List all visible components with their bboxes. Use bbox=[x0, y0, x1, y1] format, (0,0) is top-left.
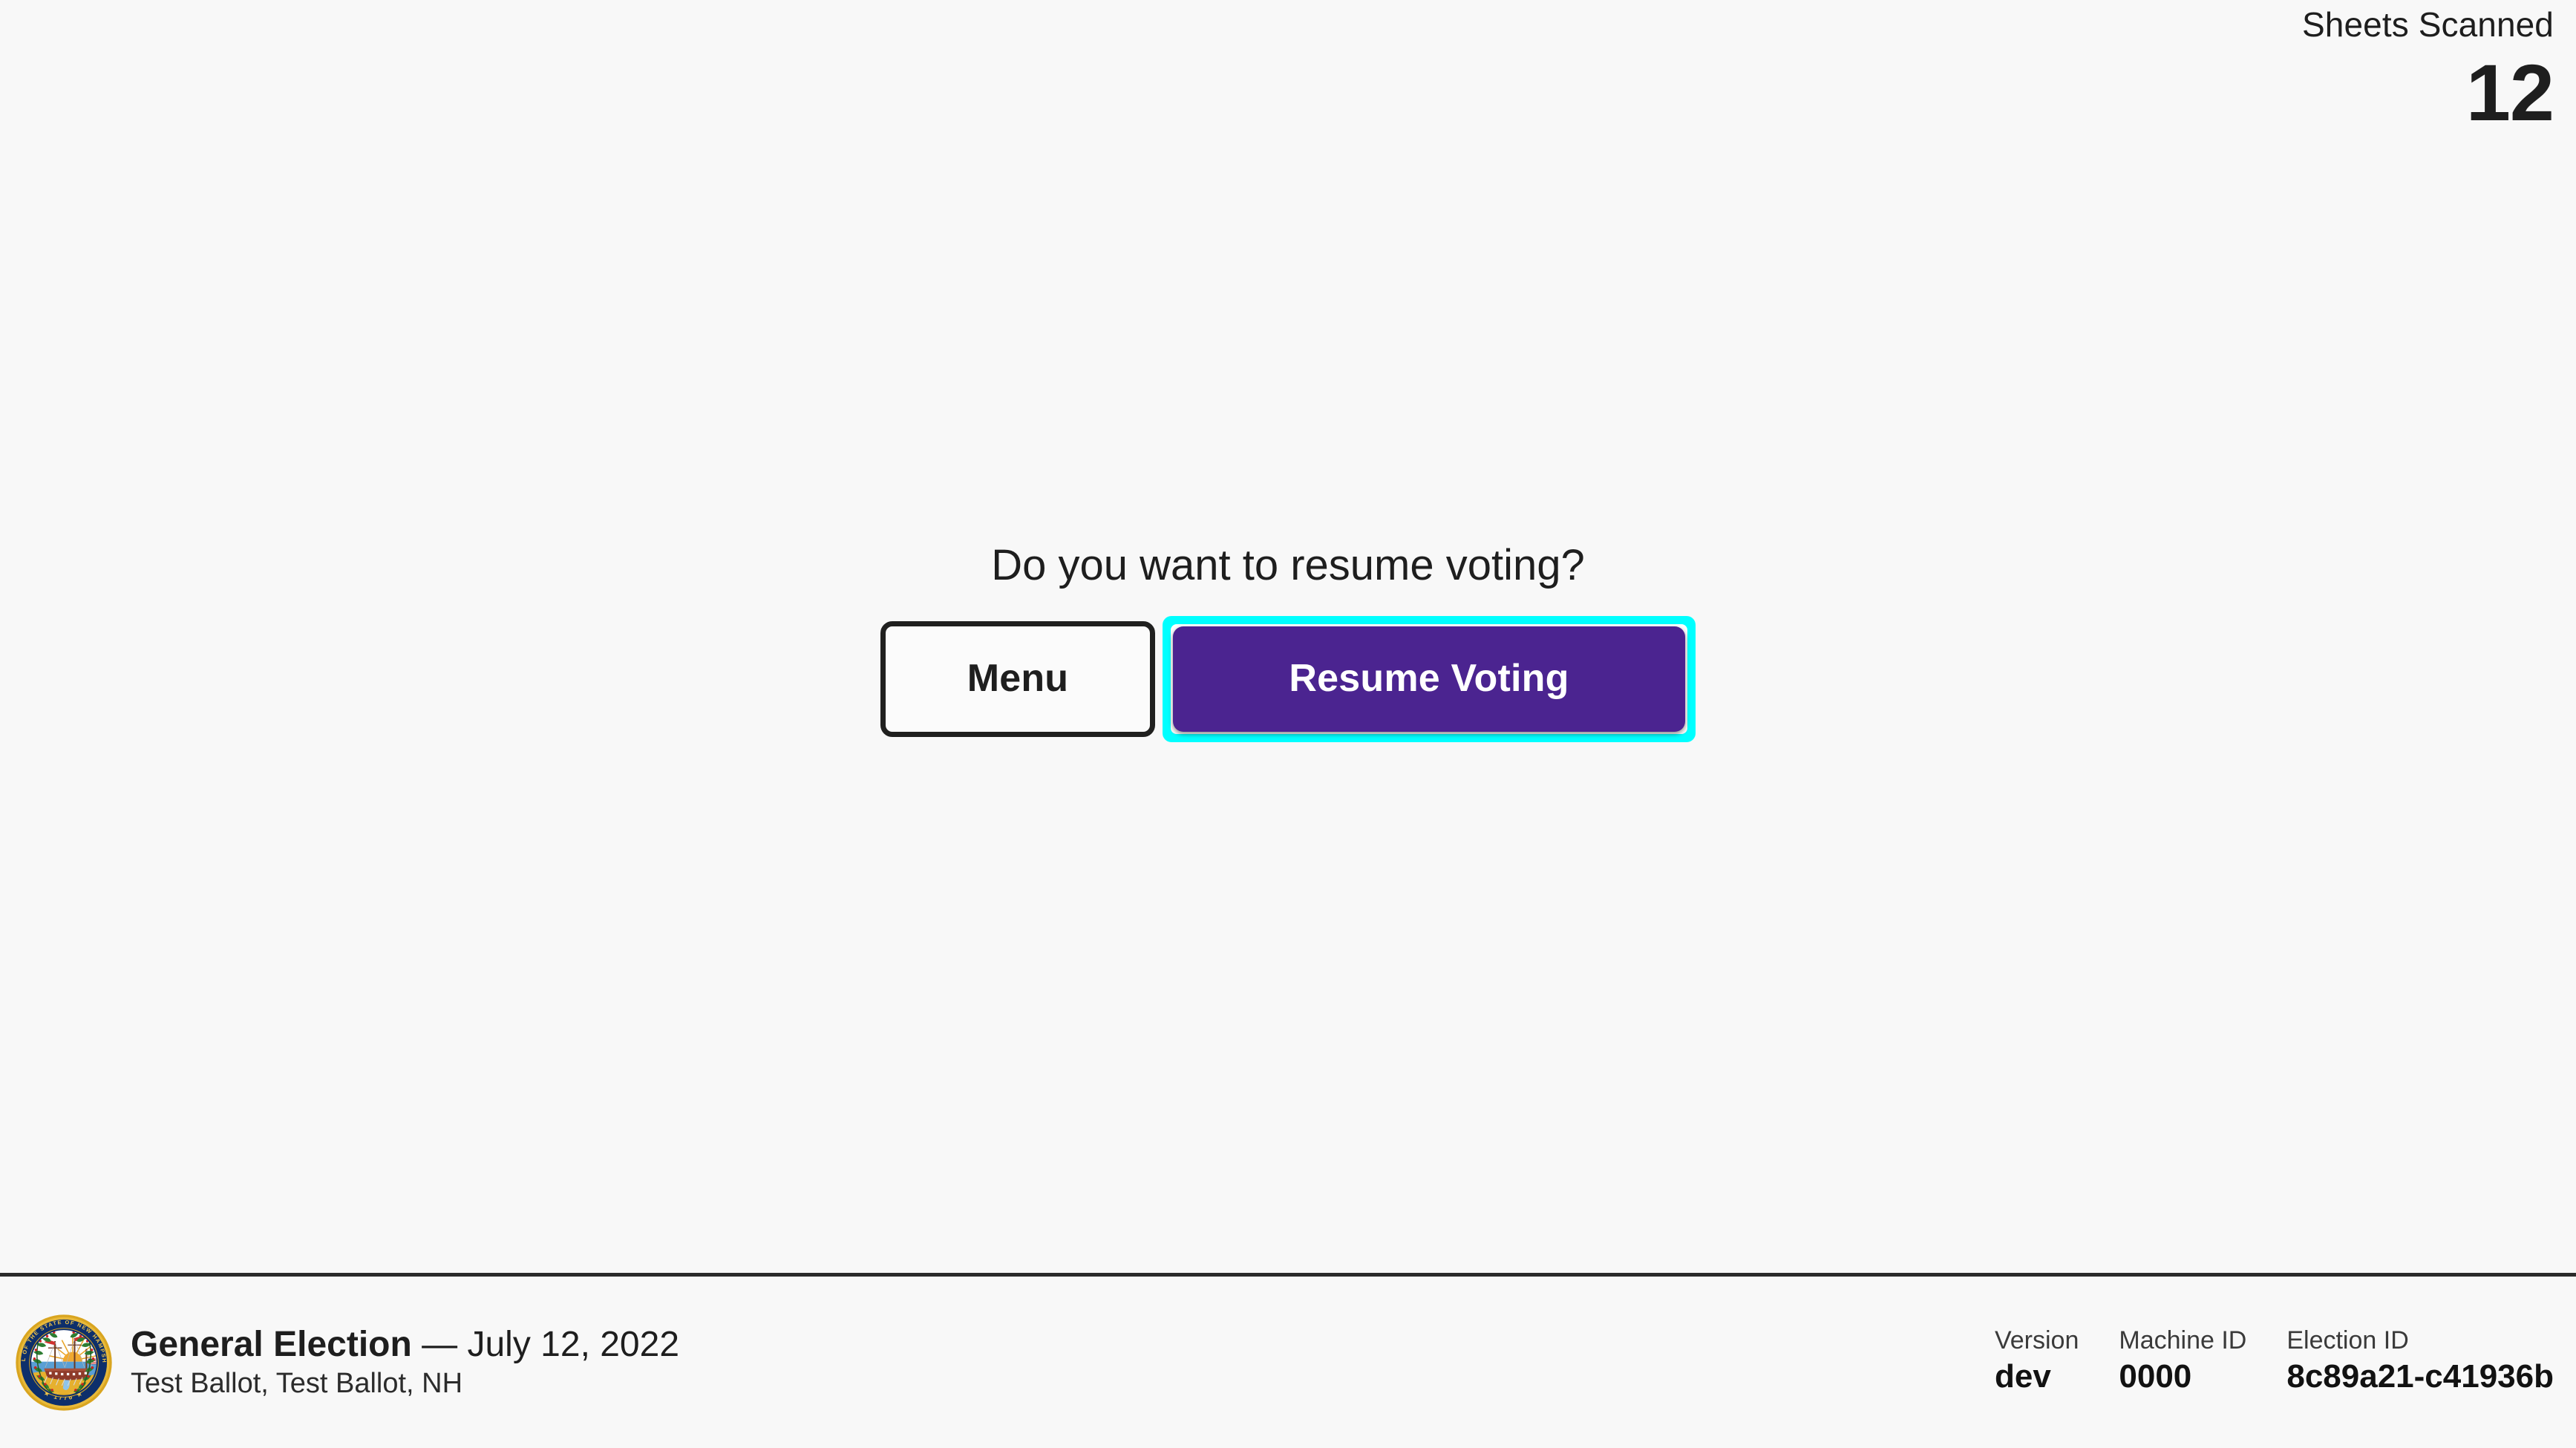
election-heading: General Election — July 12, 2022 bbox=[131, 1325, 679, 1365]
meta-machine-id-value: 0000 bbox=[2119, 1359, 2246, 1395]
dialog-button-row: Menu Resume Voting bbox=[880, 616, 1696, 742]
meta-version-label: Version bbox=[1995, 1327, 2079, 1354]
focus-ring-gap: Resume Voting bbox=[1171, 624, 1687, 734]
precinct-name: Test Ballot, Test Ballot, NH bbox=[131, 1368, 679, 1401]
menu-button[interactable]: Menu bbox=[880, 621, 1155, 737]
footer-election-info: SEAL OF THE STATE OF NEW HAMPSHIRE ★ 177… bbox=[15, 1314, 679, 1412]
election-title: General Election bbox=[131, 1325, 412, 1364]
main-content: Do you want to resume voting? Menu Resum… bbox=[0, 0, 2576, 1273]
meta-version-value: dev bbox=[1995, 1359, 2079, 1395]
new-hampshire-state-seal-icon: SEAL OF THE STATE OF NEW HAMPSHIRE ★ 177… bbox=[15, 1314, 113, 1412]
meta-election-id-label: Election ID bbox=[2286, 1327, 2554, 1354]
page-title: Do you want to resume voting? bbox=[991, 540, 1585, 592]
resume-voting-dialog: Do you want to resume voting? Menu Resum… bbox=[880, 540, 1696, 743]
footer: SEAL OF THE STATE OF NEW HAMPSHIRE ★ 177… bbox=[0, 1273, 2576, 1448]
voting-machine-screen: Sheets Scanned 12 Do you want to resume … bbox=[0, 0, 2576, 1448]
meta-election-id: Election ID 8c89a21-c41936b bbox=[2286, 1327, 2554, 1395]
resume-voting-button[interactable]: Resume Voting bbox=[1173, 626, 1685, 732]
footer-metadata: Version dev Machine ID 0000 Election ID … bbox=[1995, 1327, 2554, 1398]
meta-election-id-value: 8c89a21-c41936b bbox=[2286, 1359, 2554, 1395]
meta-version: Version dev bbox=[1995, 1327, 2079, 1395]
footer-election-text: General Election — July 12, 2022 Test Ba… bbox=[131, 1325, 679, 1400]
meta-machine-id-label: Machine ID bbox=[2119, 1327, 2246, 1354]
focus-ring: Resume Voting bbox=[1163, 616, 1696, 742]
election-date: — July 12, 2022 bbox=[422, 1325, 679, 1364]
meta-machine-id: Machine ID 0000 bbox=[2119, 1327, 2246, 1395]
